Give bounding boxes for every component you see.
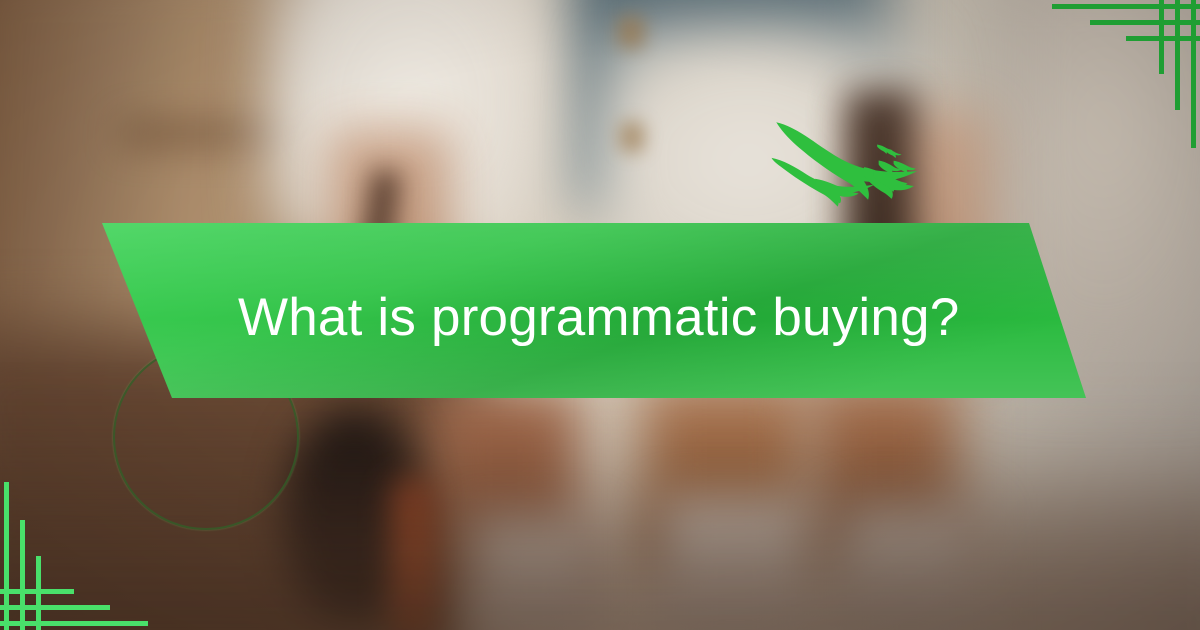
corner-tr-line-v1 bbox=[1191, 0, 1196, 148]
corner-bl-line-v2 bbox=[20, 520, 25, 630]
corner-bracket-top-right bbox=[1030, 0, 1200, 70]
birds-decoration bbox=[760, 108, 1020, 223]
social-card: What is programmatic buying? bbox=[0, 0, 1200, 630]
corner-bl-line-v1 bbox=[4, 482, 9, 630]
corner-bl-line-h2 bbox=[0, 605, 110, 610]
corner-bl-line-v3 bbox=[36, 556, 41, 630]
corner-tr-line-v3 bbox=[1159, 0, 1164, 74]
background-photo bbox=[0, 0, 1200, 630]
flock-of-birds-icon bbox=[760, 108, 1020, 223]
corner-bracket-bottom-left bbox=[0, 460, 170, 630]
background-vignette bbox=[0, 0, 1200, 630]
corner-tr-line-h2 bbox=[1090, 20, 1200, 25]
corner-tr-line-v2 bbox=[1175, 0, 1180, 110]
